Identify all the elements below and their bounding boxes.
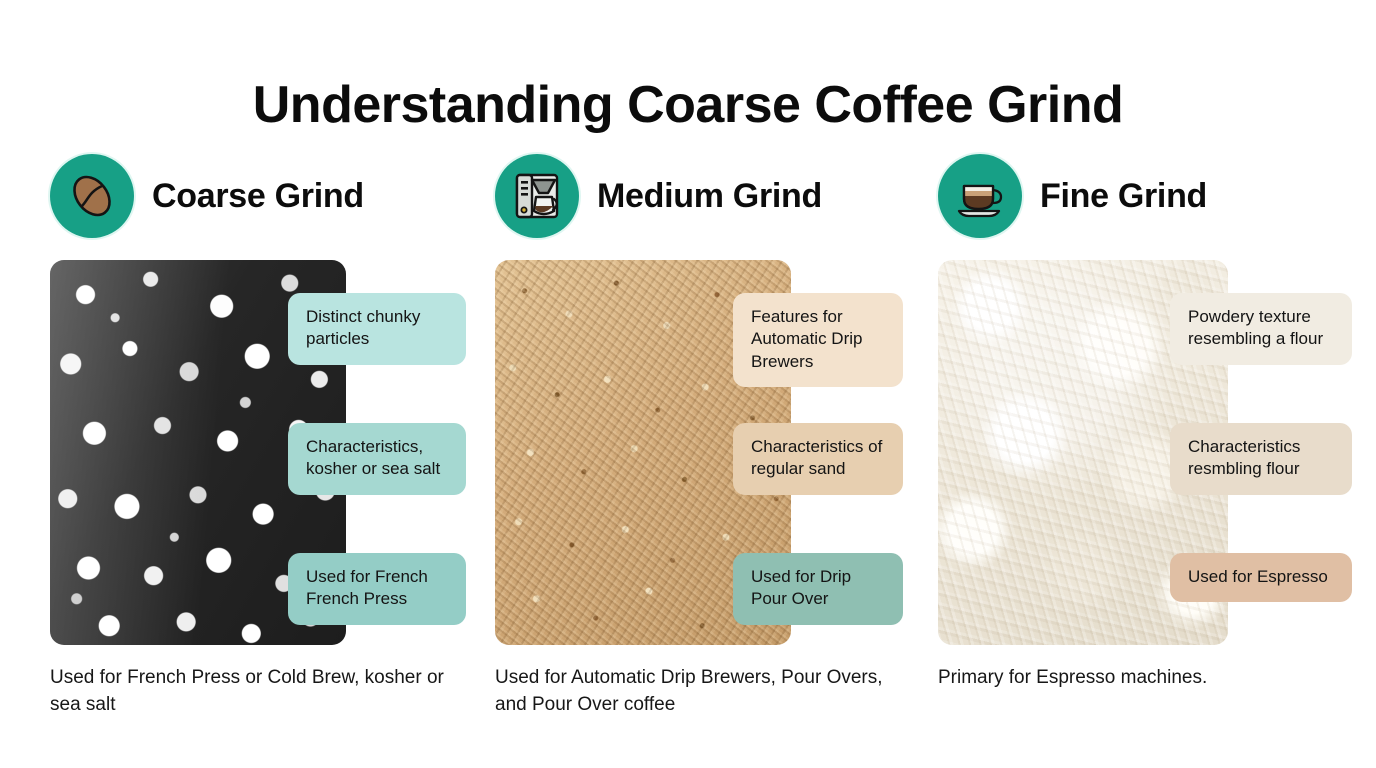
callout-medium-1: Features for Automatic Drip Brewers [733, 293, 903, 387]
callout-medium-2: Characteristics of regular sand [733, 423, 903, 495]
callout-fine-2: Characteristics resmbling flour [1170, 423, 1352, 495]
grind-column-fine: Fine Grind Powdery texture resembling a … [938, 148, 1358, 692]
espresso-cup-icon [938, 154, 1022, 238]
column-header-fine: Fine Grind [938, 148, 1358, 244]
callout-coarse-2: Characteristics, kosher or sea salt [288, 423, 466, 495]
grind-panel-medium: Features for Automatic Drip Brewers Char… [495, 260, 915, 645]
grind-column-coarse: Coarse Grind Distinct chunky particles C… [50, 148, 470, 719]
callout-fine-3: Used for Espresso [1170, 553, 1352, 602]
drip-coffee-maker-icon [495, 154, 579, 238]
column-title-fine: Fine Grind [1040, 177, 1207, 216]
caption-fine: Primary for Espresso machines. [938, 665, 1338, 692]
column-header-coarse: Coarse Grind [50, 148, 470, 244]
column-header-medium: Medium Grind [495, 148, 915, 244]
grind-column-medium: Medium Grind Features for Automatic Drip… [495, 148, 915, 719]
page-title: Understanding Coarse Coffee Grind [0, 77, 1376, 134]
caption-coarse: Used for French Press or Cold Brew, kosh… [50, 665, 450, 719]
callout-fine-1: Powdery texture resembling a flour [1170, 293, 1352, 365]
callout-medium-3: Used for Drip Pour Over [733, 553, 903, 625]
coffee-bean-icon [50, 154, 134, 238]
column-title-coarse: Coarse Grind [152, 177, 364, 216]
grind-panel-fine: Powdery texture resembling a flour Chara… [938, 260, 1358, 645]
column-title-medium: Medium Grind [597, 177, 822, 216]
caption-medium: Used for Automatic Drip Brewers, Pour Ov… [495, 665, 895, 719]
grind-columns: Coarse Grind Distinct chunky particles C… [0, 148, 1376, 748]
grind-panel-coarse: Distinct chunky particles Characteristic… [50, 260, 470, 645]
callout-coarse-3: Used for French French Press [288, 553, 466, 625]
callout-coarse-1: Distinct chunky particles [288, 293, 466, 365]
